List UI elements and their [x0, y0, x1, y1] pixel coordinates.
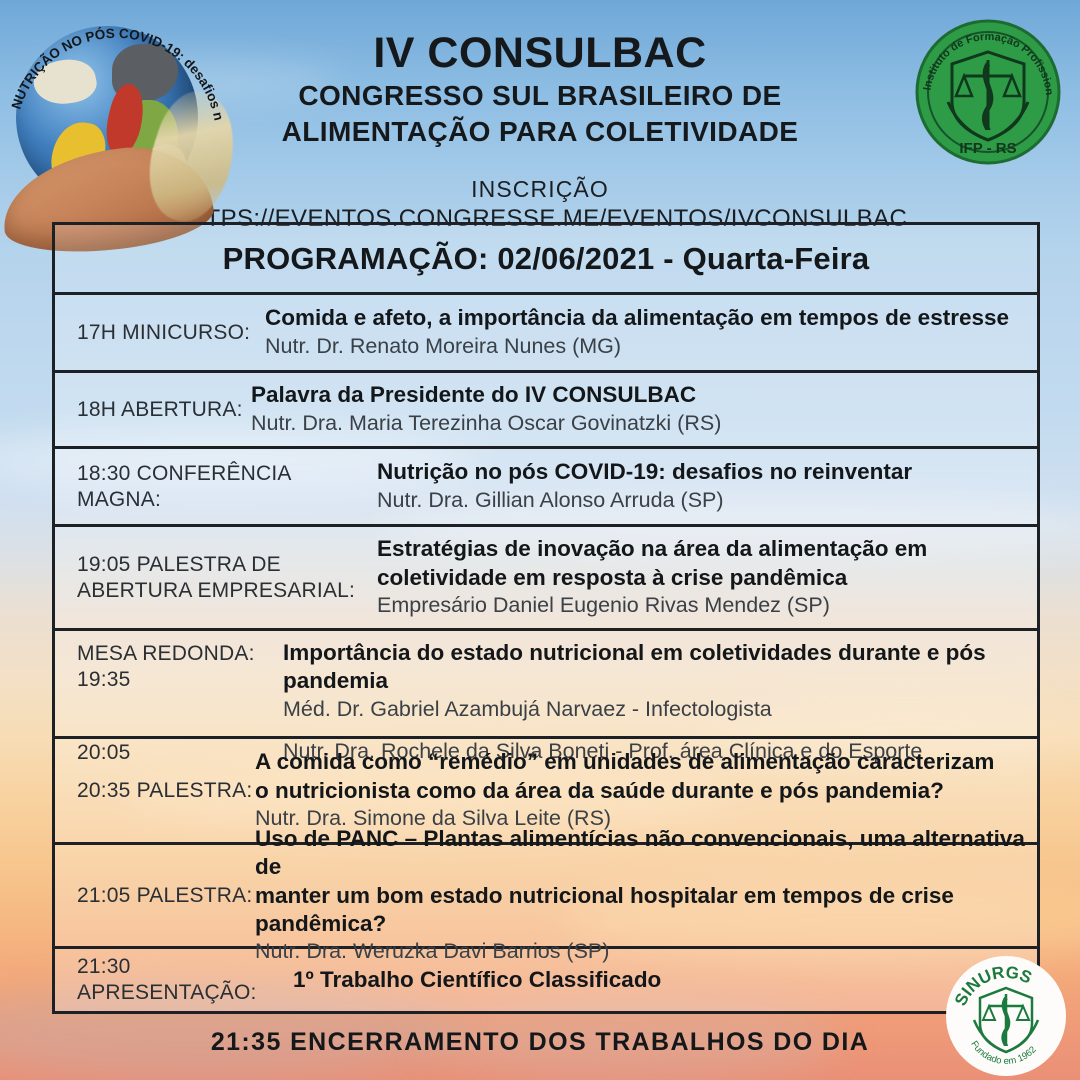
row-time-label-line1: 19:05 PALESTRA DE [77, 552, 377, 578]
row-title-line1: Uso de PANC – Plantas alimentícias não c… [255, 825, 1027, 882]
row-title-line1: Estratégias de inovação na área da alime… [377, 535, 1027, 563]
sinurgs-seal: SINURGS Fundado em 1962 [944, 954, 1068, 1078]
row-time-label: 21:30 APRESENTAÇÃO: [55, 954, 293, 1005]
table-row: 18:30 CONFERÊNCIA MAGNA: Nutrição no pós… [55, 449, 1037, 527]
row-time-label: 18:30 CONFERÊNCIA MAGNA: [55, 461, 377, 512]
row-title-line2: o nutricionista como da área da saúde du… [255, 777, 1027, 805]
row-title: Palavra da Presidente do IV CONSULBAC [251, 381, 1027, 409]
row-time-label: MESA REDONDA: 19:35 [55, 639, 283, 692]
row-time-label: 19:05 PALESTRA DE ABERTURA EMPRESARIAL: [55, 552, 377, 603]
row-speaker: Nutr. Dr. Renato Moreira Nunes (MG) [265, 333, 1027, 361]
row-speaker: Méd. Dr. Gabriel Azambujá Narvaez - Infe… [283, 696, 1027, 724]
row-content: Uso de PANC – Plantas alimentícias não c… [255, 825, 1037, 966]
row-time-label: 21:05 PALESTRA: [55, 883, 255, 909]
row-content: Importância do estado nutricional em col… [283, 639, 1037, 724]
row-time-label: 18H ABERTURA: [55, 397, 251, 423]
row-speaker: Empresário Daniel Eugenio Rivas Mendez (… [377, 592, 1027, 620]
row-content: A comida como “remédio” em unidades de a… [255, 748, 1037, 833]
row-time-label: 17H MINICURSO: [55, 320, 265, 346]
event-program-poster: IV CONSULBAC CONGRESSO SUL BRASILEIRO DE… [0, 0, 1080, 1080]
program-heading-row: PROGRAMAÇÃO: 02/06/2021 - Quarta-Feira [55, 225, 1037, 295]
row-time-label-line2: 19:35 [77, 667, 283, 693]
closing-text: 21:35 ENCERRAMENTO DOS TRABALHOS DO DIA [211, 1028, 869, 1056]
row-speaker: Nutr. Dra. Gillian Alonso Arruda (SP) [377, 487, 1027, 515]
ifp-rs-seal: Instituto de Formação Profissional - RS … [914, 18, 1062, 166]
table-row: 19:05 PALESTRA DE ABERTURA EMPRESARIAL: … [55, 527, 1037, 631]
row-title-line1: A comida como “remédio” em unidades de a… [255, 748, 1027, 776]
ifp-acronym: IFP - RS [959, 140, 1016, 157]
row-time-label: 20:35 PALESTRA: [55, 778, 255, 804]
globe-in-hand-logo: NUTRIÇÃO NO PÓS COVID-19: desafios no re… [2, 0, 230, 250]
row-title-line2: manter um bom estado nutricional hospita… [255, 882, 1027, 939]
row-time-label-line2: ABERTURA EMPRESARIAL: [77, 578, 377, 604]
row-title: Importância do estado nutricional em col… [283, 639, 1027, 696]
table-row: 17H MINICURSO: Comida e afeto, a importâ… [55, 295, 1037, 373]
row-time-label-secondary: 20:05 [55, 738, 283, 766]
row-title-line2: coletividade em resposta à crise pandêmi… [377, 564, 1027, 592]
row-speaker: Nutr. Dra. Weruzka Davi Barrios (SP) [255, 938, 1027, 966]
table-row: MESA REDONDA: 19:35 Importância do estad… [55, 631, 1037, 739]
program-table: PROGRAMAÇÃO: 02/06/2021 - Quarta-Feira 1… [52, 222, 1040, 1014]
mesa-redonda-entry-1: MESA REDONDA: 19:35 Importância do estad… [55, 639, 1037, 724]
row-content: Comida e afeto, a importância da aliment… [265, 304, 1037, 360]
program-heading: PROGRAMAÇÃO: 02/06/2021 - Quarta-Feira [223, 241, 870, 277]
row-speaker: Nutr. Dra. Maria Terezinha Oscar Govinat… [251, 410, 1027, 438]
row-content: Palavra da Presidente do IV CONSULBAC Nu… [251, 381, 1037, 437]
row-content: 1º Trabalho Científico Classificado [293, 966, 1037, 994]
table-row: 21:05 PALESTRA: Uso de PANC – Plantas al… [55, 845, 1037, 949]
row-time-label-line1: MESA REDONDA: [77, 641, 283, 667]
row-title: Nutrição no pós COVID-19: desafios no re… [377, 458, 1027, 486]
row-title: Comida e afeto, a importância da aliment… [265, 304, 1027, 332]
row-title: 1º Trabalho Científico Classificado [293, 966, 1027, 994]
row-content: Estratégias de inovação na área da alime… [377, 535, 1037, 620]
row-content: Nutrição no pós COVID-19: desafios no re… [377, 458, 1037, 514]
closing-note: 21:35 ENCERRAMENTO DOS TRABALHOS DO DIA [0, 1028, 1080, 1057]
table-row: 18H ABERTURA: Palavra da Presidente do I… [55, 373, 1037, 449]
continent-shape [30, 54, 100, 110]
